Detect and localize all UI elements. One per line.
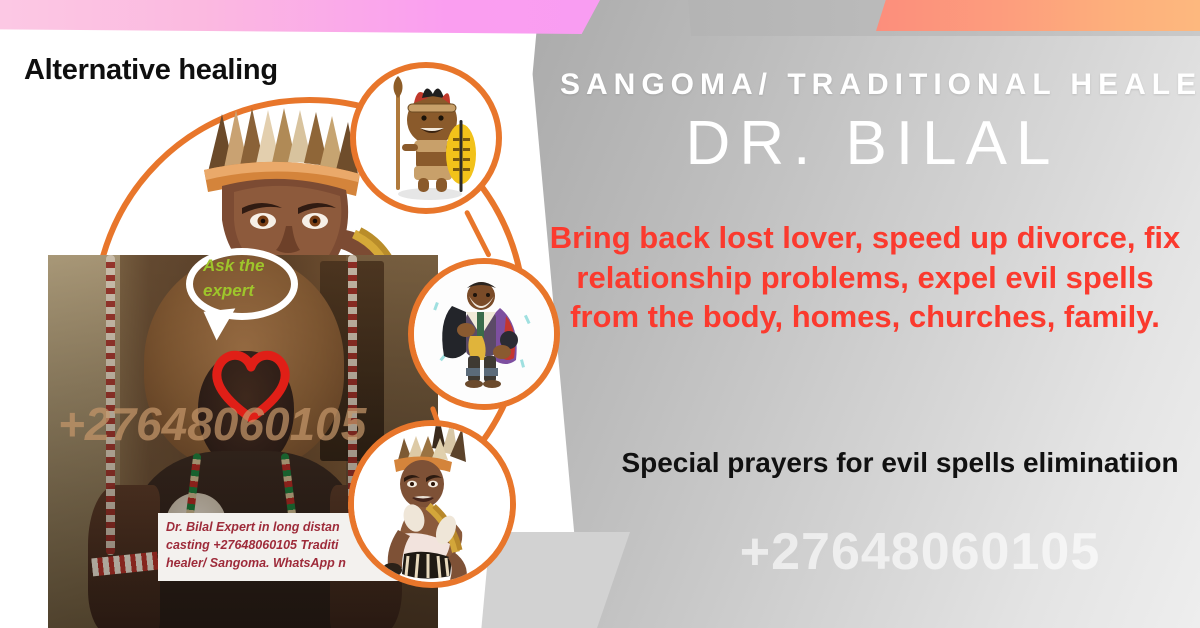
circle-kneeling-sangoma-figure [348,420,516,588]
phone-number-watermark: +27648060105 [640,522,1200,582]
speech-bubble-text: Ask the expert [203,254,313,303]
orange-banner-strip [876,0,1200,31]
pink-banner-strip [0,0,600,34]
page-title: Alternative healing [24,54,278,87]
kicker-text: SANGOMA/ TRADITIONAL HEALER [560,68,1185,102]
special-prayers-text: Special prayers for evil spells eliminat… [610,445,1190,482]
circle-bearded-healer-figure [408,258,560,410]
caption-line-3: healer/ Sangoma. WhatsApp n [166,554,400,572]
bubble-line-2: expert [203,279,313,304]
bubble-line-1: Ask the [203,254,313,279]
brand-name: DR. BILAL [560,108,1185,179]
poster-canvas: Alternative healing [0,0,1200,628]
circle-zulu-warrior-cartoon [350,62,502,214]
services-description: Bring back lost lover, speed up divorce,… [540,218,1190,337]
